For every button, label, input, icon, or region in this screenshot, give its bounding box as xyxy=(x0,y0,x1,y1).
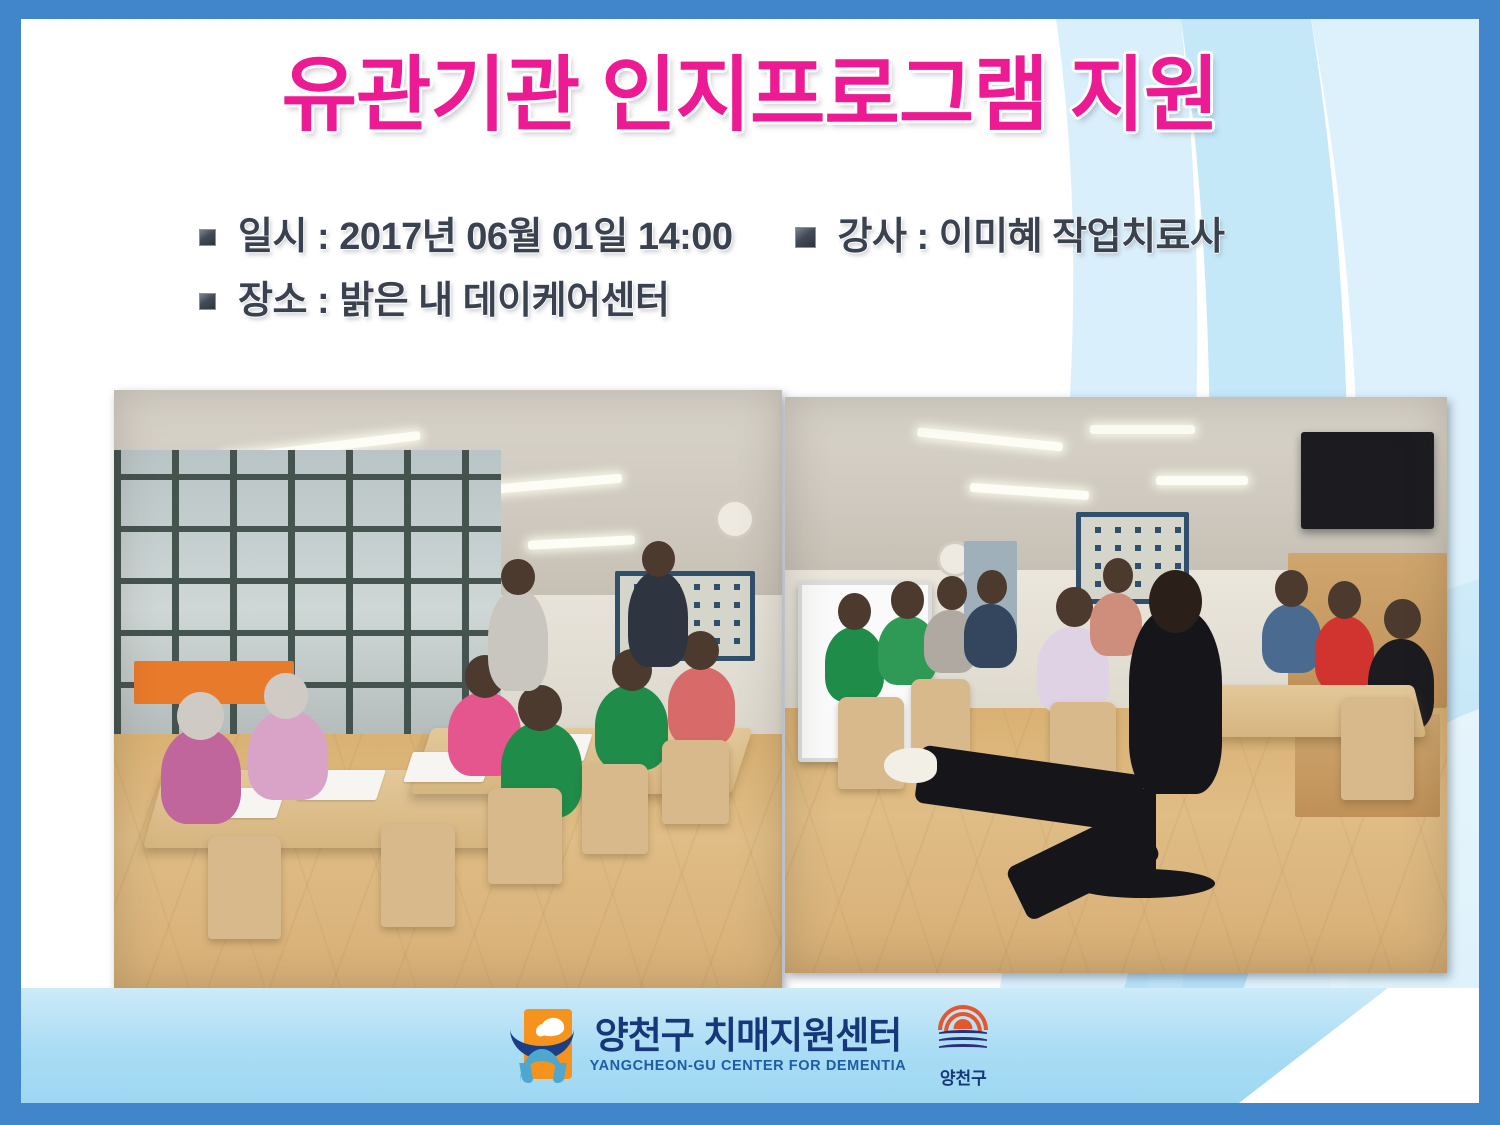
yangcheon-gu-sun-water-emblem-icon xyxy=(936,1003,990,1061)
detail-row: 일시 : 2017년 06월 01일 14:00 강사 : 이미혜 작업치료사 xyxy=(199,217,1419,259)
square-bullet-icon xyxy=(795,227,816,248)
photo-scene xyxy=(114,390,782,993)
dove-figure-logo-icon xyxy=(510,1009,576,1083)
detail-item-location: 장소 : 밝은 내 데이케어센터 xyxy=(199,281,669,323)
footer-content: 양천구 치매지원센터 YANGCHEON-GU CENTER FOR DEMEN… xyxy=(21,988,1479,1103)
detail-row: 장소 : 밝은 내 데이케어센터 xyxy=(199,281,1419,323)
footer-band: 양천구 치매지원센터 YANGCHEON-GU CENTER FOR DEMEN… xyxy=(21,988,1479,1103)
emblem-wave xyxy=(939,1044,987,1054)
detail-item-date: 일시 : 2017년 06월 01일 14:00 xyxy=(199,217,733,259)
photo-seated-exercise-session xyxy=(785,397,1447,973)
detail-list: 일시 : 2017년 06월 01일 14:00 강사 : 이미혜 작업치료사 … xyxy=(199,217,1419,323)
organization-name-ko: 양천구 치매지원센터 xyxy=(595,1017,902,1056)
square-bullet-icon xyxy=(199,293,216,310)
photo-vignette xyxy=(785,397,1447,973)
detail-text-location: 장소 : 밝은 내 데이케어센터 xyxy=(238,281,669,323)
organization-name-en: YANGCHEON-GU CENTER FOR DEMENTIA xyxy=(590,1058,907,1074)
district-emblem: 양천구 xyxy=(936,1003,990,1089)
square-bullet-icon xyxy=(199,229,216,246)
district-name: 양천구 xyxy=(940,1064,987,1089)
photo-vignette xyxy=(114,390,782,993)
detail-text-instructor: 강사 : 이미혜 작업치료사 xyxy=(838,217,1225,259)
photo-scene xyxy=(785,397,1447,973)
page-title: 유관기관 인지프로그램 지원 xyxy=(21,55,1479,137)
center-logo: 양천구 치매지원센터 YANGCHEON-GU CENTER FOR DEMEN… xyxy=(510,1009,907,1083)
logo-text-block: 양천구 치매지원센터 YANGCHEON-GU CENTER FOR DEMEN… xyxy=(590,1017,907,1075)
detail-item-instructor: 강사 : 이미혜 작업치료사 xyxy=(795,217,1225,259)
slide-root: 유관기관 인지프로그램 지원 일시 : 2017년 06월 01일 14:00 … xyxy=(0,0,1500,1125)
slide-canvas: 유관기관 인지프로그램 지원 일시 : 2017년 06월 01일 14:00 … xyxy=(21,19,1479,1103)
photo-cognitive-worksheet-session xyxy=(114,390,782,993)
detail-text-date: 일시 : 2017년 06월 01일 14:00 xyxy=(238,217,733,259)
emblem-water xyxy=(939,1030,987,1054)
